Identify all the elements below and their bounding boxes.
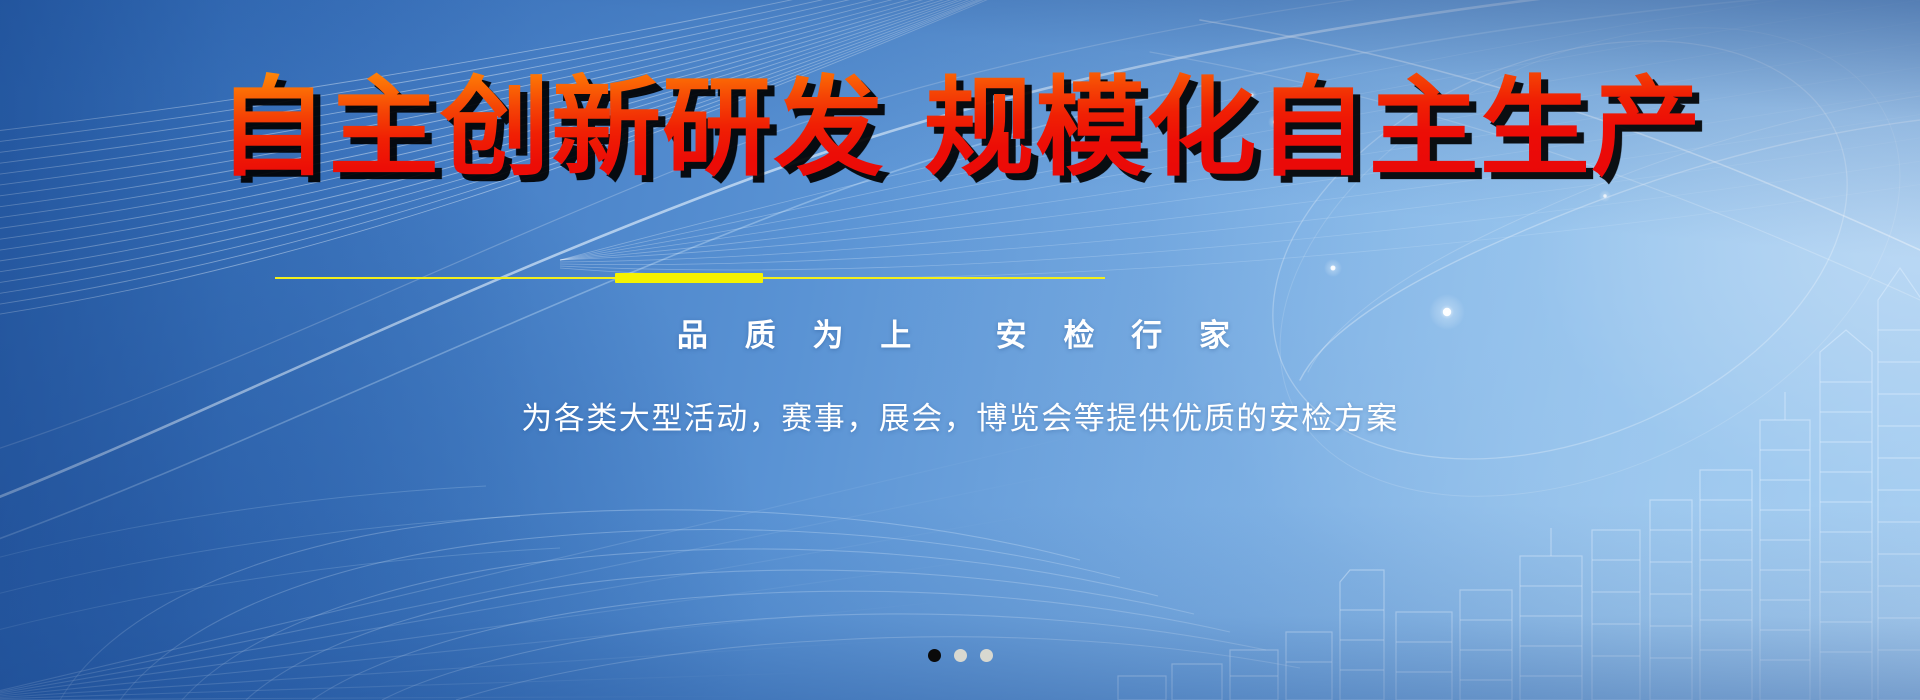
banner-content: 自主创新研发 规模化自主生产 品 质 为 上 安 检 行 家 为各类大型活动，赛… <box>0 0 1920 700</box>
divider-thick-segment <box>615 273 763 283</box>
yellow-divider <box>275 272 1105 284</box>
banner-subtitle-primary: 品 质 为 上 安 检 行 家 <box>0 310 1920 355</box>
banner-main-title: 自主创新研发 规模化自主生产 <box>218 72 1703 186</box>
title-container: 自主创新研发 规模化自主生产 <box>0 72 1920 186</box>
carousel-dot-2[interactable] <box>954 649 967 662</box>
subtitle-container: 品 质 为 上 安 检 行 家 为各类大型活动，赛事，展会，博览会等提供优质的安… <box>0 310 1920 438</box>
carousel-dot-3[interactable] <box>980 649 993 662</box>
carousel-dot-1[interactable] <box>928 649 941 662</box>
hero-banner: 自主创新研发 规模化自主生产 品 质 为 上 安 检 行 家 为各类大型活动，赛… <box>0 0 1920 700</box>
carousel-pagination <box>0 649 1920 662</box>
banner-subtitle-secondary: 为各类大型活动，赛事，展会，博览会等提供优质的安检方案 <box>0 393 1920 438</box>
